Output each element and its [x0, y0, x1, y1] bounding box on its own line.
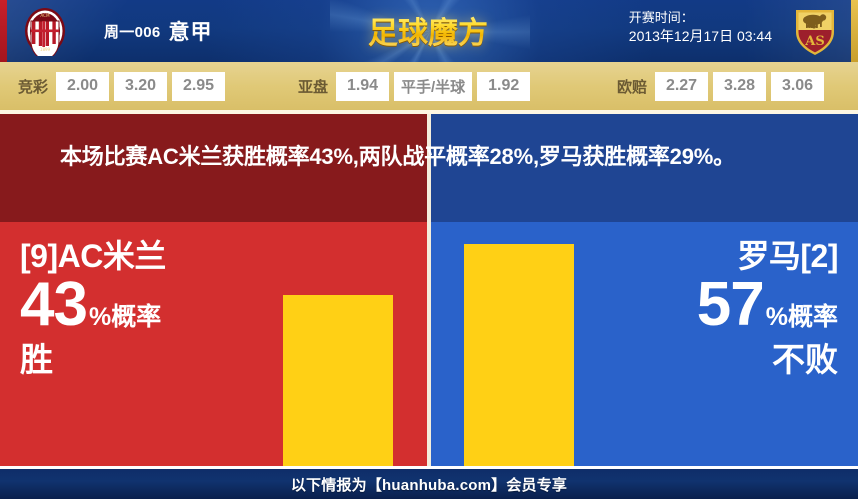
odds-cell-handicap[interactable]: 平手/半球: [394, 72, 472, 101]
home-probability-row: 43 %概率: [20, 276, 280, 335]
odds-group-label: 欧赔: [617, 76, 647, 97]
odds-cell[interactable]: 1.94: [336, 72, 389, 101]
as-roma-crest-icon: AS: [792, 6, 838, 56]
panel-divider: [427, 222, 431, 466]
home-probability-unit: %概率: [89, 297, 161, 333]
away-outcome-label: 不败: [568, 343, 838, 376]
odds-group-oupei: 欧赔 2.27 3.28 3.06: [617, 72, 824, 101]
odds-cell[interactable]: 1.92: [477, 72, 530, 101]
odds-cell[interactable]: 2.27: [655, 72, 708, 101]
left-edge-stripe: [0, 0, 7, 62]
match-probability-infographic: ACM 1899 AS 周一006 意甲 足球魔方: [0, 0, 858, 499]
match-code-label: 周一006: [104, 21, 161, 42]
match-meta: 周一006 意甲: [104, 0, 213, 62]
odds-group-label: 竞彩: [18, 76, 48, 97]
svg-text:AS: AS: [804, 34, 824, 49]
home-stats-block: [9]AC米兰 43 %概率 胜: [20, 240, 280, 376]
probability-panels: [9]AC米兰 43 %概率 胜 罗马[2] 57 %概率 不败: [0, 222, 858, 466]
footer-text: 以下情报为【huanhuba.com】会员专享: [291, 474, 567, 495]
odds-cell[interactable]: 3.06: [771, 72, 824, 101]
right-edge-stripe: [851, 0, 858, 62]
kickoff-label: 开赛时间：: [629, 9, 772, 27]
home-probability-value: 43: [20, 276, 87, 335]
away-probability-bar: [464, 244, 574, 466]
odds-group-jingcai: 竞彩 2.00 3.20 2.95: [18, 72, 225, 101]
odds-cell[interactable]: 2.00: [56, 72, 109, 101]
svg-text:ACM: ACM: [40, 13, 50, 18]
odds-group-label: 亚盘: [298, 76, 328, 97]
odds-cell[interactable]: 3.28: [713, 72, 766, 101]
away-probability-unit: %概率: [766, 297, 838, 333]
home-outcome-label: 胜: [20, 343, 280, 376]
home-team-name: [9]AC米兰: [20, 240, 280, 272]
away-probability-row: 57 %概率: [568, 276, 838, 335]
brand-logo-text: 足球魔方: [368, 8, 488, 52]
odds-cell[interactable]: 3.20: [114, 72, 167, 101]
summary-band: 本场比赛AC米兰获胜概率43%,两队战平概率28%,罗马获胜概率29%。: [0, 114, 858, 222]
kickoff-time: 开赛时间： 2013年12月17日 03:44: [629, 9, 772, 45]
league-name-label: 意甲: [169, 16, 213, 46]
home-probability-bar: [283, 295, 393, 466]
svg-text:1899: 1899: [40, 47, 51, 52]
summary-text: 本场比赛AC米兰获胜概率43%,两队战平概率28%,罗马获胜概率29%。: [60, 141, 800, 174]
away-probability-value: 57: [697, 276, 764, 335]
kickoff-value: 2013年12月17日 03:44: [629, 27, 772, 46]
away-team-name: 罗马[2]: [568, 240, 838, 272]
odds-bar: 竞彩 2.00 3.20 2.95 亚盘 1.94 平手/半球 1.92 欧赔 …: [0, 62, 858, 110]
odds-cell[interactable]: 2.95: [172, 72, 225, 101]
odds-group-yapan: 亚盘 1.94 平手/半球 1.92: [298, 72, 530, 101]
away-stats-block: 罗马[2] 57 %概率 不败: [568, 240, 838, 376]
footer-bar: 以下情报为【huanhuba.com】会员专享: [0, 469, 858, 499]
brand-logo: 足球魔方: [362, 8, 494, 52]
ac-milan-crest-icon: ACM 1899: [22, 6, 68, 56]
